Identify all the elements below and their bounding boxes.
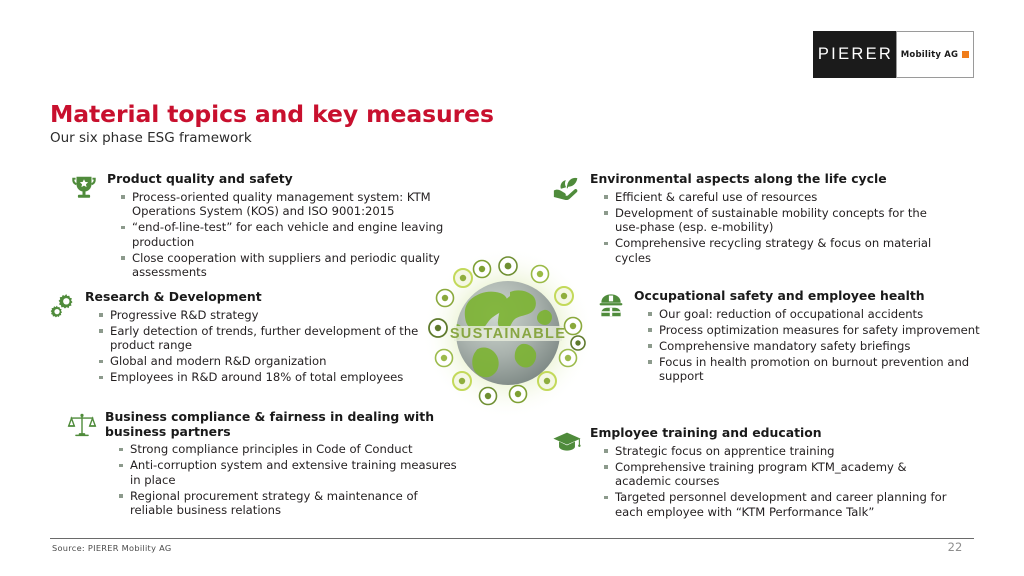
list-item: Process-oriented quality management syst… <box>121 190 458 219</box>
page-number: 22 <box>938 540 972 554</box>
list-item: Comprehensive mandatory safety briefings <box>648 339 985 354</box>
section-employee-training-and-education: Employee training and education Strategi… <box>551 426 951 521</box>
trophy-icon <box>68 172 100 203</box>
section-title: Employee training and education <box>590 426 951 441</box>
section-bullet-list: Strategic focus on apprentice training C… <box>590 444 951 520</box>
section-bullet-list: Efficient & careful use of resources Dev… <box>590 190 951 266</box>
logo-pierer-block: PIERER <box>813 31 896 78</box>
section-body: Research & Development Progressive R&D s… <box>85 290 446 386</box>
sustainability-globe-graphic: SUSTAINABLE <box>418 248 598 418</box>
sprout-in-hand-icon <box>551 172 583 203</box>
logo-mobility-text: Mobility AG <box>901 50 958 60</box>
list-item: Targeted personnel development and caree… <box>604 490 951 519</box>
section-body: Product quality and safety Process-orien… <box>107 172 458 282</box>
logo-mobility-block: Mobility AG <box>896 31 974 78</box>
list-item: Efficient & careful use of resources <box>604 190 951 205</box>
footer-divider <box>50 538 974 539</box>
list-item: “end-of-line-test” for each vehicle and … <box>121 220 458 249</box>
list-item: Anti-corruption system and extensive tra… <box>119 458 462 487</box>
section-bullet-list: Our goal: reduction of occupational acci… <box>634 307 985 384</box>
footer-source: Source: PIERER Mobility AG <box>52 543 172 553</box>
section-title: Business compliance & fairness in dealin… <box>105 410 462 439</box>
section-occupational-safety-and-employee-health: Occupational safety and employee health … <box>595 289 985 385</box>
list-item: Strong compliance principles in Code of … <box>119 442 462 457</box>
section-body: Employee training and education Strategi… <box>590 426 951 521</box>
scales-icon <box>66 410 98 441</box>
list-item: Strategic focus on apprentice training <box>604 444 951 459</box>
company-logo: PIERER Mobility AG <box>813 31 974 78</box>
section-environmental-aspects: Environmental aspects along the life cyc… <box>551 172 951 267</box>
list-item: Regional procurement strategy & maintena… <box>119 489 462 518</box>
page-title: Material topics and key measures <box>50 100 494 128</box>
gears-icon <box>46 290 78 321</box>
section-title: Product quality and safety <box>107 172 458 187</box>
list-item: Development of sustainable mobility conc… <box>604 206 951 235</box>
list-item: Comprehensive training program KTM_acade… <box>604 460 951 489</box>
section-title: Environmental aspects along the life cyc… <box>590 172 951 187</box>
graduation-cap-icon <box>551 426 583 457</box>
logo-pierer-text: PIERER <box>816 45 893 64</box>
list-item: Early detection of trends, further devel… <box>99 324 446 353</box>
section-bullet-list: Progressive R&D strategy Early detection… <box>85 308 446 385</box>
list-item: Comprehensive recycling strategy & focus… <box>604 236 951 265</box>
list-item: Our goal: reduction of occupational acci… <box>648 307 985 322</box>
section-body: Environmental aspects along the life cyc… <box>590 172 951 267</box>
list-item: Progressive R&D strategy <box>99 308 446 323</box>
logo-orange-square-icon <box>962 51 969 58</box>
section-body: Occupational safety and employee health … <box>634 289 985 385</box>
section-bullet-list: Strong compliance principles in Code of … <box>105 442 462 518</box>
section-product-quality-and-safety: Product quality and safety Process-orien… <box>68 172 458 282</box>
section-body: Business compliance & fairness in dealin… <box>105 410 462 519</box>
safety-helmet-icon <box>595 289 627 320</box>
page-subtitle: Our six phase ESG framework <box>50 130 252 146</box>
section-title: Research & Development <box>85 290 446 305</box>
list-item: Focus in health promotion on burnout pre… <box>648 355 985 384</box>
list-item: Employees in R&D around 18% of total emp… <box>99 370 446 385</box>
section-bullet-list: Process-oriented quality management syst… <box>107 190 458 281</box>
section-title: Occupational safety and employee health <box>634 289 985 304</box>
section-research-and-development: Research & Development Progressive R&D s… <box>46 290 446 386</box>
globe-center-label: SUSTAINABLE <box>450 326 566 342</box>
list-item: Process optimization measures for safety… <box>648 323 985 338</box>
list-item: Close cooperation with suppliers and per… <box>121 251 458 280</box>
section-business-compliance-and-fairness: Business compliance & fairness in dealin… <box>66 410 462 519</box>
list-item: Global and modern R&D organization <box>99 354 446 369</box>
